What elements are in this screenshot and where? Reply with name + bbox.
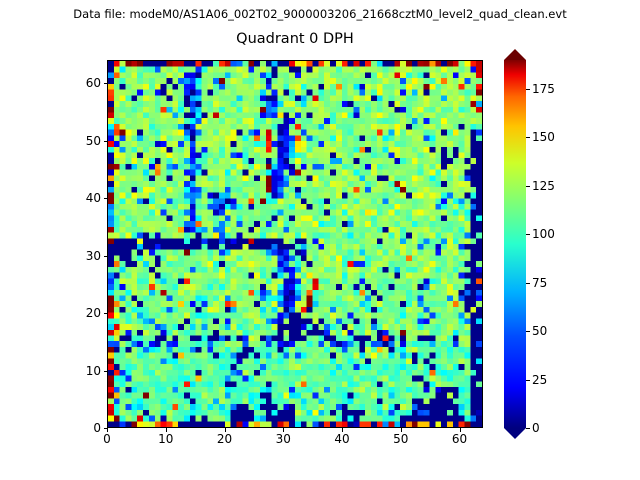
x-tick-label: 0 [103, 432, 111, 446]
colorbar-extend-max-arrow [504, 49, 526, 60]
x-tick-label: 10 [158, 432, 173, 446]
y-axis-tick-labels: 0102030405060 [60, 0, 101, 480]
x-tick-mark [107, 428, 108, 432]
x-tick-label: 50 [393, 432, 408, 446]
colorbar-tick-label: 175 [532, 82, 555, 96]
colorbar-extend-min-arrow [504, 428, 526, 439]
y-tick-mark [104, 428, 108, 429]
y-tick-label: 60 [86, 76, 101, 90]
x-tick-mark [225, 428, 226, 432]
x-tick-label: 20 [217, 432, 232, 446]
colorbar-tick-mark [526, 186, 530, 187]
colorbar-tick-label: 25 [532, 373, 547, 387]
matplotlib-figure: Data file: modeM0/AS1A06_002T02_90000032… [0, 0, 640, 480]
colorbar-tick-label: 125 [532, 179, 555, 193]
y-tick-mark [104, 198, 108, 199]
y-tick-mark [104, 141, 108, 142]
colorbar-tick-label: 100 [532, 227, 555, 241]
x-tick-mark [342, 428, 343, 432]
y-tick-label: 10 [86, 364, 101, 378]
x-tick-mark [283, 428, 284, 432]
heatmap-image[interactable] [108, 61, 482, 427]
x-tick-mark [401, 428, 402, 432]
y-tick-label: 0 [93, 421, 101, 435]
y-tick-mark [104, 83, 108, 84]
y-tick-label: 30 [86, 249, 101, 263]
page-title: Quadrant 0 DPH [107, 31, 483, 47]
colorbar-tick-mark [526, 137, 530, 138]
colorbar-tick-label: 75 [532, 276, 547, 290]
x-tick-mark [460, 428, 461, 432]
y-tick-mark [104, 256, 108, 257]
colorbar-tick-label: 0 [532, 421, 540, 435]
colorbar[interactable] [504, 60, 526, 428]
x-tick-label: 60 [452, 432, 467, 446]
colorbar-tick-mark [526, 380, 530, 381]
y-tick-label: 50 [86, 134, 101, 148]
x-tick-mark [166, 428, 167, 432]
colorbar-tick-mark [526, 283, 530, 284]
y-tick-mark [104, 313, 108, 314]
x-tick-label: 40 [334, 432, 349, 446]
y-tick-label: 20 [86, 306, 101, 320]
y-tick-label: 40 [86, 191, 101, 205]
colorbar-tick-label: 150 [532, 130, 555, 144]
colorbar-tick-mark [526, 331, 530, 332]
heatmap-axes[interactable] [107, 60, 483, 428]
colorbar-tick-mark [526, 428, 530, 429]
colorbar-tick-mark [526, 234, 530, 235]
x-tick-label: 30 [276, 432, 291, 446]
colorbar-tick-label: 50 [532, 324, 547, 338]
colorbar-gradient [504, 60, 526, 428]
y-tick-mark [104, 371, 108, 372]
colorbar-tick-mark [526, 89, 530, 90]
